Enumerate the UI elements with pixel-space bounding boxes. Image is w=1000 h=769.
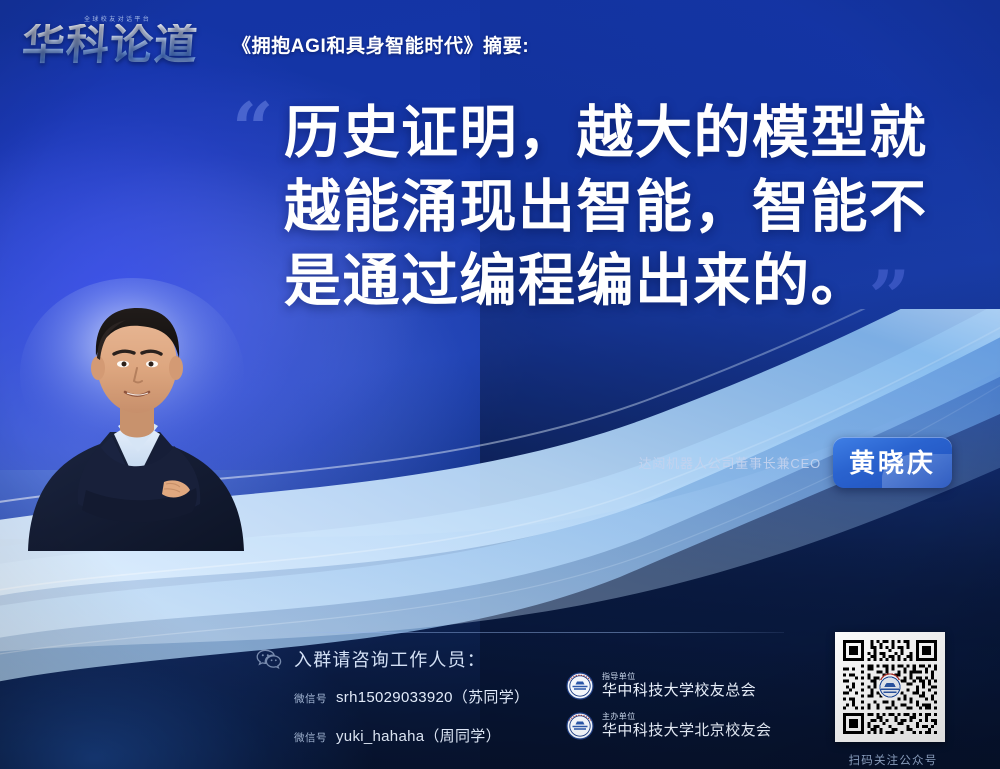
footer-divider [288, 632, 784, 633]
join-row: 入群请咨询工作人员： [256, 646, 816, 672]
wechat-icon [256, 649, 282, 669]
speaker-portrait [14, 276, 264, 551]
speaker-attribution: 达闼机器人公司董事长兼CEO 黄晓庆 [639, 437, 952, 488]
brand-logo-text: 华科论道 [20, 24, 219, 67]
brand-logo[interactable]: 全球校友对话平台 华科论道 [22, 16, 218, 67]
quote-close-mark: ” [869, 272, 910, 322]
quote-line: 越能涌现出智能，智能不 [284, 170, 944, 244]
contact-label: 微信号 [294, 691, 327, 706]
page-title: 《拥抱AGI和具身智能时代》摘要: [232, 31, 529, 67]
quote-block: “ 历史证明，越大的模型就 越能涌现出智能，智能不 是通过编程编出来的。 ” [232, 96, 944, 318]
quote-lines: 历史证明，越大的模型就 越能涌现出智能，智能不 是通过编程编出来的。 [232, 96, 944, 318]
organization-name: 华中科技大学北京校友会 [602, 723, 771, 739]
speaker-name-badge: 黄晓庆 [833, 437, 952, 488]
speaker-role: 达闼机器人公司董事长兼CEO [639, 453, 821, 472]
organization-list: 指导单位 华中科技大学校友总会 主办单位 华中科技大学北京校友会 [566, 672, 771, 740]
contact-id: yuki_hahaha（周同学） [336, 725, 501, 746]
organization-text: 主办单位 华中科技大学北京校友会 [602, 713, 771, 738]
qr-caption: 扫码关注公众号 [835, 752, 951, 768]
join-instruction: 入群请咨询工作人员： [294, 646, 486, 672]
contact-label: 微信号 [294, 730, 327, 745]
organization-name: 华中科技大学校友总会 [602, 683, 756, 699]
organization-row: 指导单位 华中科技大学校友总会 [566, 672, 771, 700]
university-seal-icon [566, 712, 594, 740]
contact-id: srh15029033920（苏同学） [336, 686, 529, 707]
qr-section: 扫码关注公众号 [835, 632, 951, 768]
organization-text: 指导单位 华中科技大学校友总会 [602, 673, 756, 698]
organization-kind: 主办单位 [602, 713, 771, 721]
university-seal-icon [566, 672, 594, 700]
organization-row: 主办单位 华中科技大学北京校友会 [566, 712, 771, 740]
poster-header: 全球校友对话平台 华科论道 《拥抱AGI和具身智能时代》摘要: [22, 16, 529, 67]
organization-kind: 指导单位 [602, 673, 756, 681]
quote-line: 是通过编程编出来的。 [284, 244, 944, 318]
poster-canvas: 全球校友对话平台 华科论道 《拥抱AGI和具身智能时代》摘要: “ 历史证明，越… [0, 0, 1000, 769]
qr-code-icon[interactable] [835, 632, 945, 742]
speaker-name: 黄晓庆 [849, 449, 936, 479]
quote-line: 历史证明，越大的模型就 [284, 96, 944, 170]
